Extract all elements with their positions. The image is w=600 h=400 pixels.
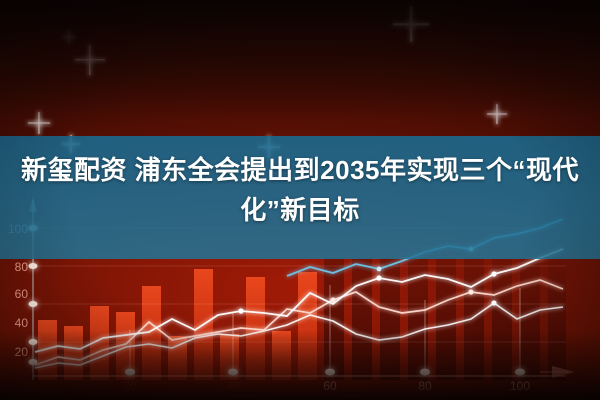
page-title: 新玺配资 浦东全会提出到2035年实现三个“现代 化”新目标: [0, 150, 600, 250]
page-title-line-1: 新玺配资 浦东全会提出到2035年实现三个“现代: [21, 150, 579, 190]
bottom-fade-overlay: [0, 330, 600, 400]
y-tick-label-40: 40: [15, 316, 29, 330]
page-title-line-2: 化”新目标: [240, 190, 360, 230]
y-tick-label-80: 80: [15, 260, 29, 274]
y-tick-label-60: 60: [15, 287, 29, 301]
banner-stage: 100 80 60 40 20 20 40 60 80 100 新玺配资 浦东全…: [0, 0, 600, 400]
